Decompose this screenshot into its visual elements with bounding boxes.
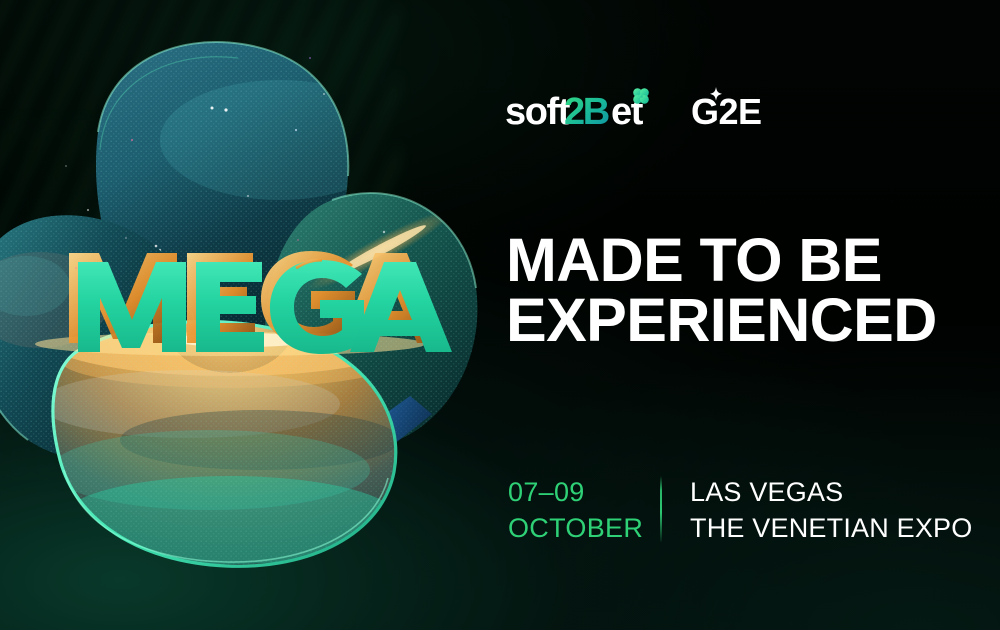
- g2e-logo: G2E: [691, 86, 775, 132]
- g2e-text: G2E: [691, 91, 762, 132]
- page-title: MADE TO BE EXPERIENCED: [506, 230, 976, 351]
- event-venue: LAS VEGAS THE VENETIAN EXPO: [690, 474, 972, 546]
- promo-banner: soft 2B et G2E: [0, 0, 1000, 630]
- clover-asterisk-icon: [633, 88, 649, 104]
- event-info: 07–09 OCTOBER LAS VEGAS THE VENETIAN EXP…: [508, 474, 972, 546]
- logo-row: soft 2B et G2E: [505, 86, 775, 132]
- info-divider: [660, 476, 662, 542]
- soft2bet-logo: soft 2B et: [505, 86, 657, 132]
- content-column: soft 2B et G2E: [505, 0, 1000, 630]
- clover-artwork: [0, 0, 500, 630]
- logo-text-soft: soft: [505, 91, 571, 132]
- event-dates: 07–09 OCTOBER: [508, 474, 660, 546]
- logo-text-2b: 2B: [564, 91, 609, 132]
